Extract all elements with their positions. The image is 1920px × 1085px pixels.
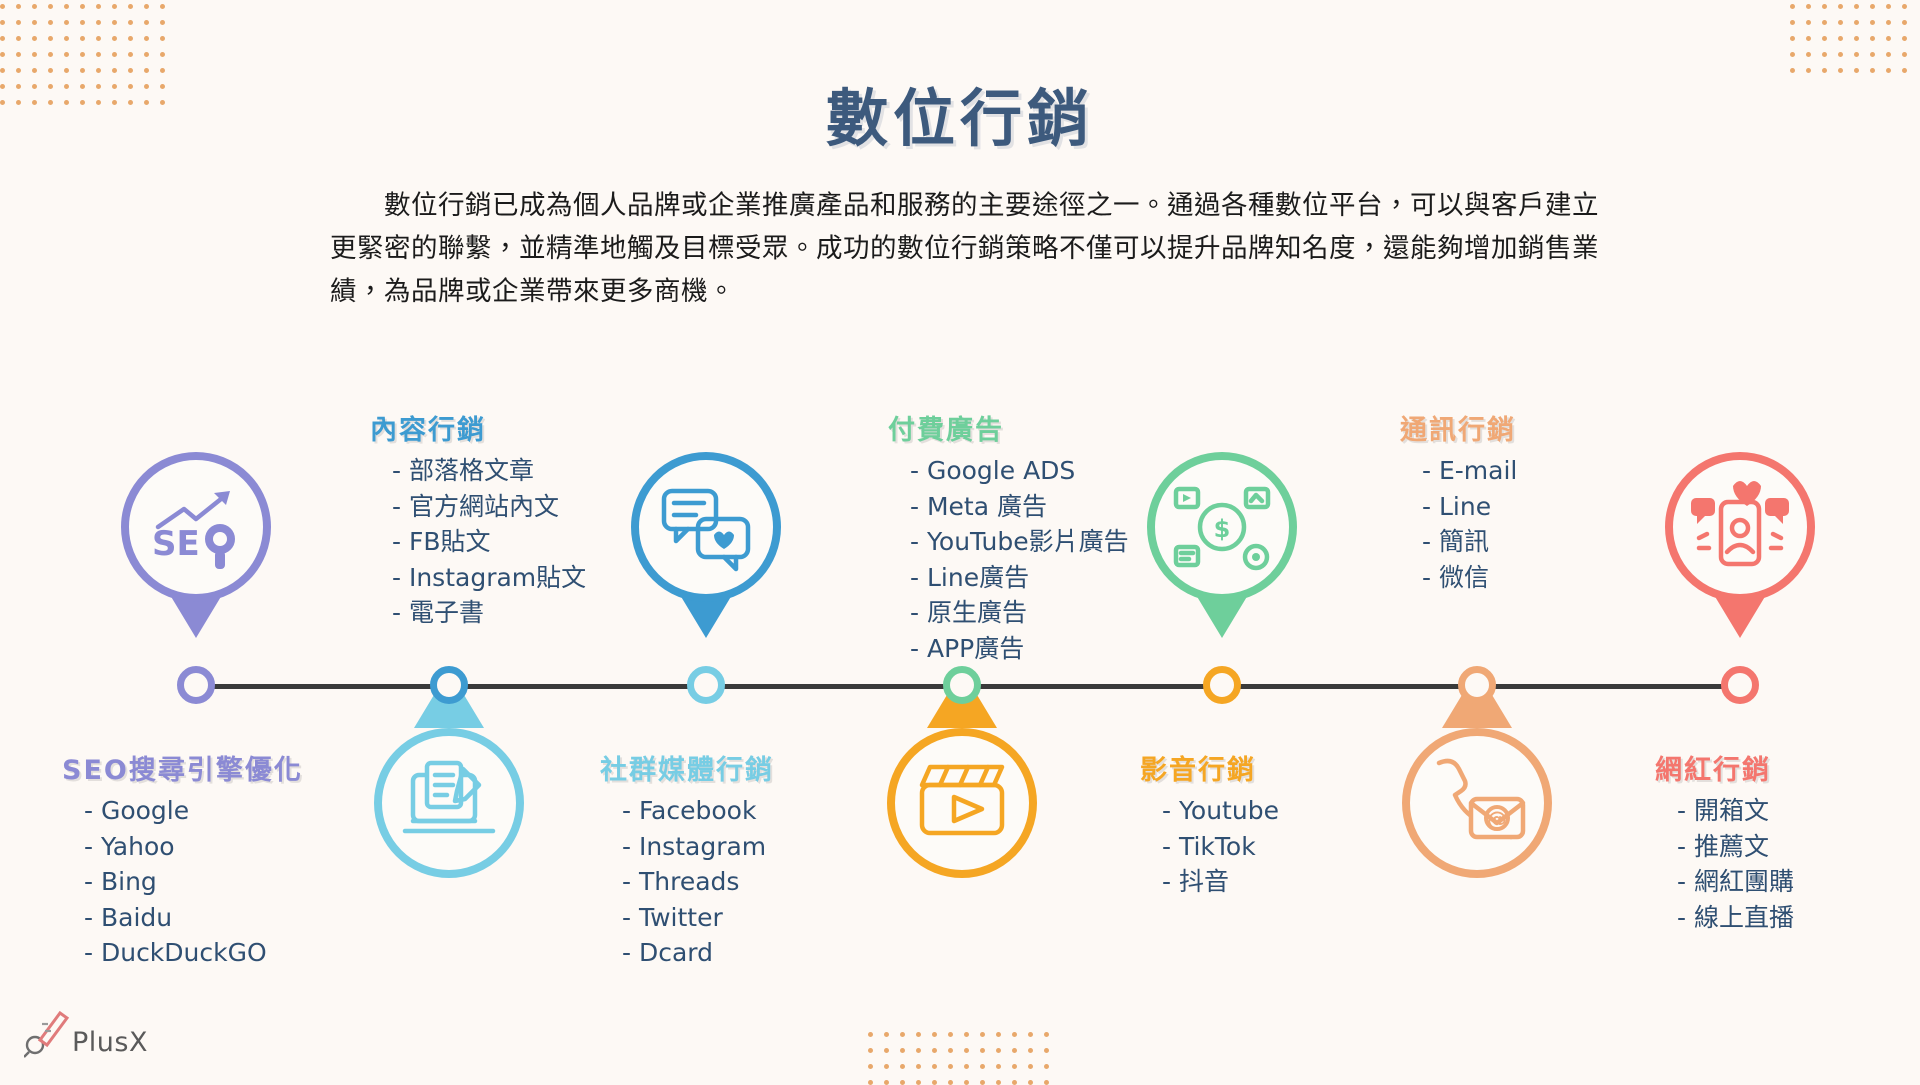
list-item: Instagram (622, 829, 774, 865)
pin-marker-messaging[interactable]: @ (1402, 712, 1552, 900)
section-block-paid-ads: 付費廣告Google ADSMeta 廣告YouTube影片廣告Line廣告原生… (888, 408, 1129, 666)
section-list-content: 部落格文章官方網站內文FB貼文Instagram貼文電子書 (370, 453, 586, 631)
list-item: 微信 (1422, 560, 1517, 596)
list-item: 網紅團購 (1677, 864, 1794, 900)
section-block-messaging: 通訊行銷E-mailLine簡訊微信 (1400, 408, 1517, 595)
section-list-social: FacebookInstagramThreadsTwitterDcard (600, 793, 774, 971)
list-item: Instagram貼文 (392, 560, 586, 596)
svg-text:@: @ (1487, 807, 1507, 831)
infographic-canvas: 數位行銷 數位行銷已成為個人品牌或企業推廣產品和服務的主要途徑之一。通過各種數位… (0, 0, 1920, 1080)
logo-wordmark: PlusX (72, 1027, 148, 1058)
list-item: Threads (622, 864, 774, 900)
section-title-messaging: 通訊行銷 (1400, 408, 1517, 447)
svg-text:SE: SE (152, 524, 200, 564)
section-title-influencer: 網紅行銷 (1655, 748, 1794, 787)
list-item: 抖音 (1162, 864, 1279, 900)
intro-paragraph: 數位行銷已成為個人品牌或企業推廣產品和服務的主要途徑之一。通過各種數位平台，可以… (330, 185, 1600, 314)
logo-mark-icon (24, 1004, 70, 1058)
timeline-node-influencer[interactable] (1721, 666, 1759, 704)
section-title-video: 影音行銷 (1140, 748, 1279, 787)
section-list-paid-ads: Google ADSMeta 廣告YouTube影片廣告Line廣告原生廣告AP… (888, 453, 1129, 666)
section-title-content: 內容行銷 (370, 408, 586, 447)
list-item: E-mail (1422, 453, 1517, 489)
list-item: 開箱文 (1677, 793, 1794, 829)
pin-marker-video[interactable] (887, 712, 1037, 900)
list-item: YouTube影片廣告 (910, 524, 1129, 560)
timeline-node-social[interactable] (687, 666, 725, 704)
messaging-phone-envelope-at-icon: @ (1402, 728, 1552, 878)
timeline-node-paid-ads[interactable] (943, 666, 981, 704)
pin-marker-content[interactable] (631, 452, 781, 640)
section-title-paid-ads: 付費廣告 (888, 408, 1129, 447)
section-title-seo: SEO搜尋引擎優化 (62, 748, 303, 787)
list-item: Yahoo (84, 829, 303, 865)
list-item: Youtube (1162, 793, 1279, 829)
section-block-content: 內容行銷部落格文章官方網站內文FB貼文Instagram貼文電子書 (370, 408, 586, 631)
section-block-influencer: 網紅行銷開箱文推薦文網紅團購線上直播 (1655, 748, 1794, 935)
pin-marker-influencer[interactable] (1665, 452, 1815, 640)
video-clapperboard-play-icon (887, 728, 1037, 878)
section-title-social: 社群媒體行銷 (600, 748, 774, 787)
list-item: Dcard (622, 935, 774, 971)
intro-text: 數位行銷已成為個人品牌或企業推廣產品和服務的主要途徑之一。通過各種數位平台，可以… (330, 190, 1599, 307)
list-item: Line廣告 (910, 560, 1129, 596)
list-item: 電子書 (392, 595, 586, 631)
list-item: 部落格文章 (392, 453, 586, 489)
timeline-node-messaging[interactable] (1458, 666, 1496, 704)
influencer-phone-hearts-icon (1665, 452, 1815, 602)
list-item: 原生廣告 (910, 595, 1129, 631)
plusx-logo: PlusX (24, 1004, 148, 1058)
list-item: DuckDuckGO (84, 935, 303, 971)
list-item: 推薦文 (1677, 829, 1794, 865)
content-chat-bubbles-icon (631, 452, 781, 602)
section-block-video: 影音行銷YoutubeTikTok抖音 (1140, 748, 1279, 900)
list-item: Twitter (622, 900, 774, 936)
timeline-node-seo[interactable] (177, 666, 215, 704)
timeline-node-video[interactable] (1203, 666, 1241, 704)
list-item: 線上直播 (1677, 900, 1794, 936)
section-block-social: 社群媒體行銷FacebookInstagramThreadsTwitterDca… (600, 748, 774, 971)
section-list-seo: GoogleYahooBingBaiduDuckDuckGO (62, 793, 303, 971)
list-item: Google (84, 793, 303, 829)
section-list-messaging: E-mailLine簡訊微信 (1400, 453, 1517, 595)
pin-marker-paid-ads[interactable]: $ (1147, 452, 1297, 640)
list-item: TikTok (1162, 829, 1279, 865)
list-item: Meta 廣告 (910, 489, 1129, 525)
list-item: Google ADS (910, 453, 1129, 489)
list-item: Baidu (84, 900, 303, 936)
list-item: Facebook (622, 793, 774, 829)
list-item: APP廣告 (910, 631, 1129, 667)
list-item: Line (1422, 489, 1517, 525)
list-item: 簡訊 (1422, 524, 1517, 560)
page-title: 數位行銷 (0, 68, 1920, 158)
section-list-influencer: 開箱文推薦文網紅團購線上直播 (1655, 793, 1794, 935)
seo-chart-magnifier-icon: SE (121, 452, 271, 602)
list-item: 官方網站內文 (392, 489, 586, 525)
section-list-video: YoutubeTikTok抖音 (1140, 793, 1279, 900)
list-item: FB貼文 (392, 524, 586, 560)
svg-text:$: $ (1214, 515, 1231, 543)
pin-marker-social[interactable] (374, 712, 524, 900)
timeline-node-content[interactable] (430, 666, 468, 704)
social-laptop-pen-icon (374, 728, 524, 878)
paid-ads-monitor-icon: $ (1147, 452, 1297, 602)
pin-marker-seo[interactable]: SE (121, 452, 271, 640)
list-item: Bing (84, 864, 303, 900)
section-block-seo: SEO搜尋引擎優化GoogleYahooBingBaiduDuckDuckGO (62, 748, 303, 971)
